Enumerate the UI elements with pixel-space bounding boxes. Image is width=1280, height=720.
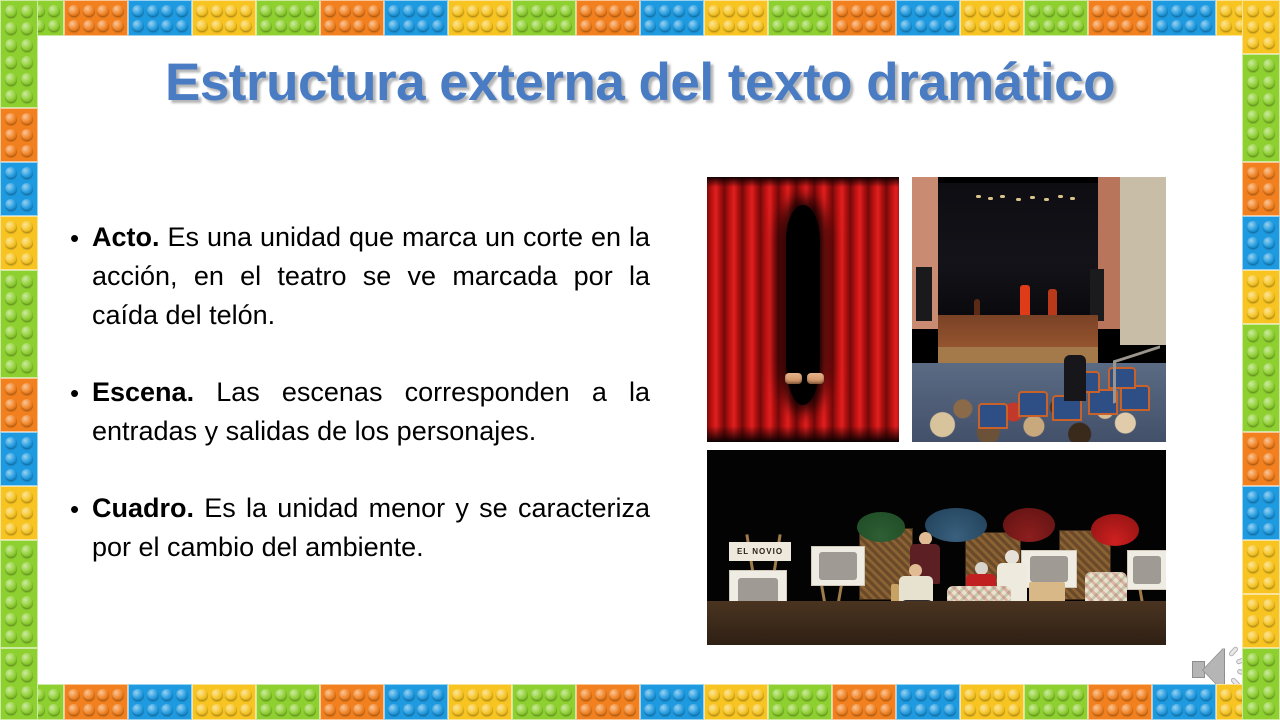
lego-stud: [432, 5, 444, 17]
lego-stud: [993, 5, 1005, 17]
lego-stud: [1263, 631, 1276, 644]
lego-stud: [1247, 346, 1260, 360]
lego-stud: [1092, 689, 1104, 701]
lego-stud: [275, 20, 287, 32]
lego-stud: [688, 20, 700, 32]
lego-stud: [1263, 237, 1276, 250]
lego-brick-yellow: [0, 486, 38, 540]
lego-stud: [1247, 702, 1260, 715]
lego-stud: [1263, 577, 1276, 590]
parasol-dark-red: [1003, 508, 1055, 542]
lego-stud: [1136, 5, 1148, 17]
lego-stud: [417, 20, 429, 32]
lego-stud: [1200, 704, 1212, 716]
lego-stud: [211, 5, 223, 17]
lego-stud: [624, 5, 636, 17]
lego-stud: [289, 20, 301, 32]
lego-stud: [339, 5, 351, 17]
lego-stud: [240, 5, 252, 17]
lego-brick-blue: [384, 684, 448, 720]
actor-red-1: [1020, 285, 1030, 319]
lego-stud: [467, 20, 479, 32]
lego-stud: [816, 20, 828, 32]
list-item: • Acto. Es una unidad que marca un corte…: [70, 218, 650, 335]
lego-stud: [1263, 702, 1276, 715]
lego-stud: [644, 704, 656, 716]
lego-stud: [324, 5, 336, 17]
lego-stud: [353, 20, 365, 32]
lego-brick-green: [1242, 324, 1280, 432]
lego-stud: [929, 704, 941, 716]
lego-stud: [176, 20, 188, 32]
lego-stud: [560, 689, 572, 701]
lego-stud: [5, 309, 18, 323]
lego-stud: [388, 20, 400, 32]
bullet-marker: •: [70, 489, 92, 529]
lego-stud: [851, 5, 863, 17]
lego-stud: [772, 704, 784, 716]
lego-stud: [21, 22, 34, 36]
lego-stud: [176, 689, 188, 701]
lego-stud: [1247, 363, 1260, 377]
lego-stud: [5, 399, 18, 412]
lego-brick-green: [0, 0, 64, 36]
lego-stud: [5, 5, 18, 19]
lego-stud: [196, 5, 208, 17]
lego-brick-blue: [128, 684, 192, 720]
lego-brick-orange: [0, 378, 38, 432]
lego-brick-yellow: [448, 0, 512, 36]
lego-stud: [1072, 689, 1084, 701]
lego-stud: [865, 689, 877, 701]
lego-stud: [21, 523, 34, 536]
lego-stud: [624, 704, 636, 716]
lego-stud: [388, 689, 400, 701]
lego-stud: [1263, 561, 1276, 574]
lego-stud: [21, 383, 34, 396]
lego-stud: [5, 415, 18, 428]
lego-stud: [21, 199, 34, 212]
lego-stud: [240, 704, 252, 716]
bullet-text: Acto. Es una unidad que marca un corte e…: [92, 218, 650, 335]
lego-stud: [1247, 437, 1260, 450]
lego-stud: [609, 704, 621, 716]
lego-brick-blue: [1152, 0, 1216, 36]
lego-stud: [979, 704, 991, 716]
lego-stud: [147, 20, 159, 32]
lego-stud: [1220, 5, 1232, 17]
lego-stud: [1072, 5, 1084, 17]
lego-stud: [496, 20, 508, 32]
lego-brick-yellow: [960, 0, 1024, 36]
canvas-painting-2: [811, 546, 865, 586]
lego-brick-blue: [1242, 216, 1280, 270]
lego-brick-green: [0, 270, 38, 378]
lego-brick-green: [512, 684, 576, 720]
lego-stud: [176, 704, 188, 716]
lego-stud: [1247, 199, 1260, 212]
lego-stud: [1264, 704, 1276, 716]
lego-stud: [5, 613, 18, 627]
lego-stud: [836, 704, 848, 716]
lego-stud: [1235, 704, 1247, 716]
lego-stud: [915, 689, 927, 701]
lego-stud: [353, 689, 365, 701]
lego-stud: [1247, 127, 1260, 141]
lego-brick-yellow: [448, 684, 512, 720]
lego-stud: [1263, 144, 1276, 158]
lego-stud: [5, 326, 18, 340]
lego-stud: [48, 20, 60, 32]
lego-stud: [112, 704, 124, 716]
lego-stud: [1185, 704, 1197, 716]
lego-stud: [5, 469, 18, 482]
lego-stud: [688, 5, 700, 17]
lego-stud: [403, 5, 415, 17]
lego-stud: [5, 113, 18, 126]
lego-stud: [787, 704, 799, 716]
lego-stud: [275, 704, 287, 716]
lego-stud: [1057, 5, 1069, 17]
lego-stud: [993, 689, 1005, 701]
lego-brick-yellow: [704, 684, 768, 720]
lego-stud: [1235, 20, 1247, 32]
lego-stud: [801, 704, 813, 716]
lego-stud: [21, 360, 34, 374]
lego-stud: [1263, 523, 1276, 536]
lego-stud: [609, 689, 621, 701]
lego-stud: [560, 5, 572, 17]
lego-stud: [432, 704, 444, 716]
lego-stud: [1156, 20, 1168, 32]
image-theater-auditorium-audience: [912, 177, 1166, 442]
lego-stud: [1263, 397, 1276, 411]
lego-stud: [545, 20, 557, 32]
lego-stud: [1247, 5, 1260, 18]
lego-stud: [1263, 453, 1276, 466]
lego-stud: [83, 20, 95, 32]
lego-brick-orange: [832, 0, 896, 36]
lego-stud: [21, 39, 34, 53]
lego-brick-orange: [1242, 432, 1280, 486]
lego-stud: [673, 20, 685, 32]
lego-stud: [531, 20, 543, 32]
lego-stud: [944, 5, 956, 17]
lego-stud: [1247, 523, 1260, 536]
lego-stud: [21, 275, 34, 289]
lego-stud: [240, 20, 252, 32]
lego-stud: [659, 689, 671, 701]
lego-stud: [531, 5, 543, 17]
lego-stud: [21, 453, 34, 466]
lego-stud: [353, 5, 365, 17]
lego-stud: [993, 704, 1005, 716]
lego-stud: [496, 5, 508, 17]
lego-stud: [1136, 704, 1148, 716]
lego-stud: [5, 579, 18, 593]
lego-stud: [68, 704, 80, 716]
lego-stud: [97, 5, 109, 17]
lego-stud: [161, 5, 173, 17]
lego-stud: [1200, 5, 1212, 17]
lego-stud: [68, 689, 80, 701]
lego-stud: [964, 5, 976, 17]
lego-stud: [5, 596, 18, 610]
lego-brick-blue: [640, 0, 704, 36]
lego-brick-yellow: [1242, 0, 1280, 54]
lego-brick-green: [512, 0, 576, 36]
lego-brick-yellow: [192, 0, 256, 36]
lego-stud: [481, 689, 493, 701]
lego-stud: [944, 704, 956, 716]
auditorium-wall: [1120, 177, 1166, 345]
lego-stud: [609, 5, 621, 17]
lego-stud: [1263, 380, 1276, 394]
lego-stud: [545, 704, 557, 716]
lego-stud: [1072, 20, 1084, 32]
lego-stud: [21, 415, 34, 428]
lego-stud: [83, 5, 95, 17]
lego-stud: [403, 704, 415, 716]
lego-stud: [752, 704, 764, 716]
lego-stud: [112, 5, 124, 17]
lego-stud: [1092, 20, 1104, 32]
lego-brick-orange: [1242, 162, 1280, 216]
lego-stud: [225, 20, 237, 32]
lego-stud: [33, 5, 45, 17]
lego-stud: [964, 704, 976, 716]
lego-stud: [1247, 275, 1260, 288]
lego-stud: [1247, 329, 1260, 343]
lego-stud: [1263, 491, 1276, 504]
page-title: Estructura externa del texto dramático: [0, 52, 1280, 113]
lego-stud: [1008, 704, 1020, 716]
sound-wave-3: [1237, 668, 1250, 676]
lego-brick-yellow: [1242, 270, 1280, 324]
lego-stud: [1107, 5, 1119, 17]
lego-stud: [659, 20, 671, 32]
lego-stud: [1264, 20, 1276, 32]
lego-brick-orange: [832, 684, 896, 720]
lego-stud: [644, 20, 656, 32]
lego-stud: [481, 5, 493, 17]
lego-stud: [339, 20, 351, 32]
parasol-green: [857, 512, 905, 542]
lego-stud: [1200, 20, 1212, 32]
lego-stud: [915, 5, 927, 17]
lego-stud: [644, 5, 656, 17]
lego-stud: [595, 689, 607, 701]
lego-stud: [723, 20, 735, 32]
lego-stud: [531, 704, 543, 716]
lego-stud: [1263, 291, 1276, 304]
lego-stud: [196, 20, 208, 32]
lego-stud: [21, 653, 34, 666]
lego-stud: [1092, 5, 1104, 17]
lego-stud: [1263, 363, 1276, 377]
canvas-painting-4: [1127, 550, 1166, 590]
lego-stud: [1247, 144, 1260, 158]
lego-stud: [595, 5, 607, 17]
lego-stud: [21, 562, 34, 576]
lego-stud: [609, 20, 621, 32]
lego-stud: [545, 689, 557, 701]
lego-stud: [1247, 380, 1260, 394]
lego-stud: [688, 704, 700, 716]
lego-stud: [211, 704, 223, 716]
lego-stud: [1263, 686, 1276, 699]
lego-stud: [880, 689, 892, 701]
lego-stud: [83, 689, 95, 701]
lego-stud: [5, 630, 18, 644]
lego-stud: [880, 704, 892, 716]
lego-stud: [836, 689, 848, 701]
lego-stud: [1043, 689, 1055, 701]
lego-stud: [1263, 199, 1276, 212]
lego-stud: [21, 686, 34, 699]
lego-stud: [432, 20, 444, 32]
lego-stud: [496, 704, 508, 716]
lego-stud: [68, 5, 80, 17]
lego-stud: [1121, 704, 1133, 716]
bullet-body-text: Es una unidad que marca un corte en la a…: [92, 222, 650, 330]
lego-brick-blue: [1242, 486, 1280, 540]
lego-stud: [836, 5, 848, 17]
lego-stud: [5, 22, 18, 36]
lego-stud: [5, 523, 18, 536]
lego-stud: [48, 704, 60, 716]
lego-stud: [275, 5, 287, 17]
lego-stud: [1247, 291, 1260, 304]
bullet-text: Cuadro. Es la unidad menor y se caracter…: [92, 489, 650, 567]
speaker-stack-right: [1090, 269, 1104, 321]
audio-speaker-icon[interactable]: [1192, 645, 1254, 695]
lego-brick-orange: [64, 0, 128, 36]
lego-stud: [21, 702, 34, 715]
lego-stud: [132, 5, 144, 17]
lego-stud: [1121, 689, 1133, 701]
lego-stud: [1028, 5, 1040, 17]
lego-stud: [225, 5, 237, 17]
lego-stud: [147, 704, 159, 716]
lego-stud: [33, 689, 45, 701]
lego-stud: [624, 689, 636, 701]
lego-stud: [1263, 5, 1276, 18]
lego-brick-green: [1024, 684, 1088, 720]
lego-stud: [161, 689, 173, 701]
lego-stud: [1247, 183, 1260, 196]
lego-brick-yellow: [1216, 0, 1280, 36]
lego-stud: [1043, 5, 1055, 17]
lego-stud: [452, 704, 464, 716]
lego-brick-yellow: [192, 684, 256, 720]
lego-stud: [5, 653, 18, 666]
lego-stud: [5, 199, 18, 212]
lego-stud: [737, 20, 749, 32]
lego-stud: [1247, 21, 1260, 34]
speaker-stack-left: [916, 267, 932, 321]
lego-stud: [801, 689, 813, 701]
lego-stud: [1057, 20, 1069, 32]
lego-stud: [673, 704, 685, 716]
lego-stud: [1043, 704, 1055, 716]
hand-left: [785, 373, 802, 384]
lego-stud: [1072, 704, 1084, 716]
lego-stud: [1107, 689, 1119, 701]
list-item: • Cuadro. Es la unidad menor y se caract…: [70, 489, 650, 567]
lego-stud: [5, 237, 18, 250]
lego-stud: [1156, 704, 1168, 716]
lego-stud: [1220, 20, 1232, 32]
lego-stud: [801, 5, 813, 17]
lego-stud: [21, 167, 34, 180]
lego-stud: [1121, 20, 1133, 32]
lego-stud: [915, 704, 927, 716]
lego-stud: [900, 5, 912, 17]
stage-floor: [707, 601, 1166, 645]
lego-stud: [659, 5, 671, 17]
lego-brick-orange: [0, 108, 38, 162]
lego-stud: [737, 5, 749, 17]
lego-stud: [1263, 414, 1276, 428]
lego-stud: [580, 5, 592, 17]
lego-stud: [5, 343, 18, 357]
lego-stud: [851, 689, 863, 701]
image-stage-play-scene: EL NOVIO: [707, 450, 1166, 645]
lego-stud: [432, 689, 444, 701]
lego-stud: [737, 689, 749, 701]
lego-stud: [816, 5, 828, 17]
lego-stud: [417, 704, 429, 716]
lego-stud: [33, 704, 45, 716]
lego-brick-blue: [0, 162, 38, 216]
lego-stud: [1171, 704, 1183, 716]
lego-brick-green: [0, 684, 64, 720]
lego-stud: [865, 5, 877, 17]
lego-brick-yellow: [1242, 594, 1280, 648]
lego-stud: [944, 20, 956, 32]
lego-stud: [21, 253, 34, 266]
lego-stud: [403, 20, 415, 32]
bullet-marker: •: [70, 218, 92, 258]
lego-stud: [993, 20, 1005, 32]
lego-brick-blue: [896, 684, 960, 720]
lego-stud: [5, 686, 18, 699]
lego-stud: [1008, 689, 1020, 701]
lego-stud: [1247, 414, 1260, 428]
lego-stud: [772, 20, 784, 32]
lego-stud: [595, 20, 607, 32]
lego-stud: [1247, 307, 1260, 320]
lego-stud: [1263, 615, 1276, 628]
lego-stud: [1263, 669, 1276, 682]
sign-el-novio: EL NOVIO: [729, 542, 791, 561]
lego-stud: [900, 704, 912, 716]
actor-woman-white-head: [1005, 550, 1019, 564]
lego-brick-blue: [896, 0, 960, 36]
lego-stud: [21, 630, 34, 644]
lego-stud: [19, 704, 31, 716]
lego-stud: [496, 689, 508, 701]
lego-stud: [21, 596, 34, 610]
lego-stud: [1247, 221, 1260, 234]
lego-stud: [260, 704, 272, 716]
lego-stud: [752, 689, 764, 701]
lego-stud: [1092, 704, 1104, 716]
lego-brick-green: [1024, 0, 1088, 36]
lego-stud: [772, 5, 784, 17]
lego-stud: [4, 689, 16, 701]
